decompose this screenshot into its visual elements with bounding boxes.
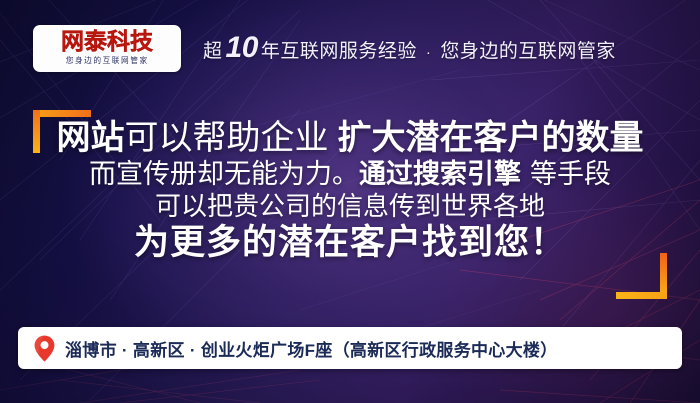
bracket-top-left-horizontal — [33, 110, 91, 117]
logo-subtitle: 您身边的互联网管家 — [66, 57, 149, 65]
tagline-middle: 年互联网服务经验 — [261, 36, 417, 63]
headline-line-2: 而宣传册却无能为力。通过搜索引擎等手段 — [0, 160, 700, 189]
tagline-suffix: 您身边的互联网管家 — [440, 36, 616, 63]
logo-company-name: 网泰科技 — [61, 31, 153, 54]
headline-line-3: 可以把贵公司的信息传到世界各地 — [0, 193, 700, 221]
header-tagline: 超 10 年互联网服务经验 · 您身边的互联网管家 — [203, 33, 616, 63]
bracket-bottom-right-horizontal — [616, 292, 667, 299]
promo-banner: 网泰科技 您身边的互联网管家 超 10 年互联网服务经验 · 您身边的互联网管家… — [0, 0, 700, 403]
tagline-prefix: 超 — [203, 36, 223, 63]
location-pin-icon — [34, 335, 55, 362]
tagline-years-number: 10 — [223, 33, 261, 63]
headline-block: 网站可以帮助企业扩大潜在客户的数量 而宣传册却无能为力。通过搜索引擎等手段 可以… — [0, 120, 700, 262]
address-bar: 淄博市 · 高新区 · 创业火炬广场F座（高新区行政服务中心大楼） — [18, 327, 682, 369]
headline-line2-body: 而宣传册却无能为力。 — [89, 159, 359, 189]
headline-line1-highlight: 扩大潜在客户的数量 — [338, 119, 644, 157]
headline-line2-highlight: 通过搜索引擎 — [359, 159, 521, 189]
headline-line-1: 网站可以帮助企业扩大潜在客户的数量 — [0, 120, 700, 156]
headline-line-4: 为更多的潜在客户找到您！ — [0, 224, 700, 261]
tagline-separator: · — [417, 44, 441, 61]
address-text: 淄博市 · 高新区 · 创业火炬广场F座（高新区行政服务中心大楼） — [65, 336, 558, 361]
headline-line1-emphasis: 网站 — [57, 119, 125, 157]
headline-line1-body: 可以帮助企业 — [125, 119, 329, 157]
headline-line2-tail: 等手段 — [530, 159, 611, 189]
banner-header: 网泰科技 您身边的互联网管家 超 10 年互联网服务经验 · 您身边的互联网管家 — [0, 23, 700, 73]
company-logo: 网泰科技 您身边的互联网管家 — [33, 25, 181, 72]
